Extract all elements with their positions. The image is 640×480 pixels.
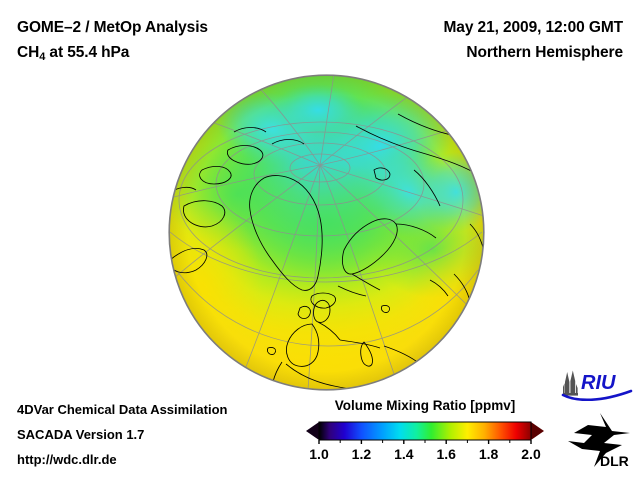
dlr-logo: DLR — [566, 411, 632, 469]
species-suffix: at 55.4 hPa — [45, 44, 129, 61]
coastline-turkey — [420, 360, 454, 365]
species-prefix: CH — [17, 44, 39, 61]
species-level-label: CH4 at 55.4 hPa — [17, 44, 129, 62]
colorbar-tick-label: 1.4 — [394, 446, 413, 462]
coastline-ne-limb — [464, 134, 484, 162]
page-title: GOME–2 / MetOp Analysis — [17, 19, 208, 37]
coastline-arabia-w — [436, 366, 464, 391]
visualization-page: GOME–2 / MetOp Analysis CH4 at 55.4 hPa … — [0, 0, 640, 480]
riu-logo: RIU — [561, 369, 633, 401]
coastline-red-sea — [412, 386, 428, 391]
colorbar-tick-label: 1.8 — [479, 446, 498, 462]
dlr-logo-svg: DLR — [566, 411, 632, 469]
footer-line-version: SACADA Version 1.7 — [17, 427, 144, 442]
cathedral-icon — [563, 371, 578, 396]
species-subscript: 4 — [39, 51, 45, 63]
colorbar-gradient — [319, 422, 531, 440]
colorbar-tick-label: 2.0 — [521, 446, 540, 462]
footer-line-url[interactable]: http://wdc.dlr.de — [17, 452, 117, 467]
colorbar-tick-label: 1.2 — [352, 446, 371, 462]
dlr-wordmark: DLR — [600, 453, 629, 469]
globe-svg — [168, 74, 485, 391]
globe-map — [168, 74, 485, 391]
riu-logo-svg: RIU — [561, 369, 633, 401]
coastline-arabia-e — [454, 364, 482, 388]
colorbar: Volume Mixing Ratio [ppmv] 1.01.21.41.61… — [306, 398, 544, 474]
colorbar-ticks — [319, 440, 531, 444]
footer-line-method: 4DVar Chemical Data Assimilation — [17, 402, 228, 417]
colorbar-arrow-right — [531, 422, 544, 440]
colorbar-title: Volume Mixing Ratio [ppmv] — [306, 398, 544, 413]
colorbar-tick-label: 1.6 — [436, 446, 455, 462]
date-label: May 21, 2009, 12:00 GMT — [444, 19, 624, 37]
colorbar-tick-label: 1.0 — [309, 446, 328, 462]
colorbar-swatch — [306, 418, 544, 444]
colorbar-arrow-left — [306, 422, 319, 440]
colorbar-tick-labels: 1.01.21.41.61.82.0 — [306, 446, 544, 468]
region-label: Northern Hemisphere — [466, 44, 623, 62]
riu-wordmark: RIU — [581, 372, 616, 394]
